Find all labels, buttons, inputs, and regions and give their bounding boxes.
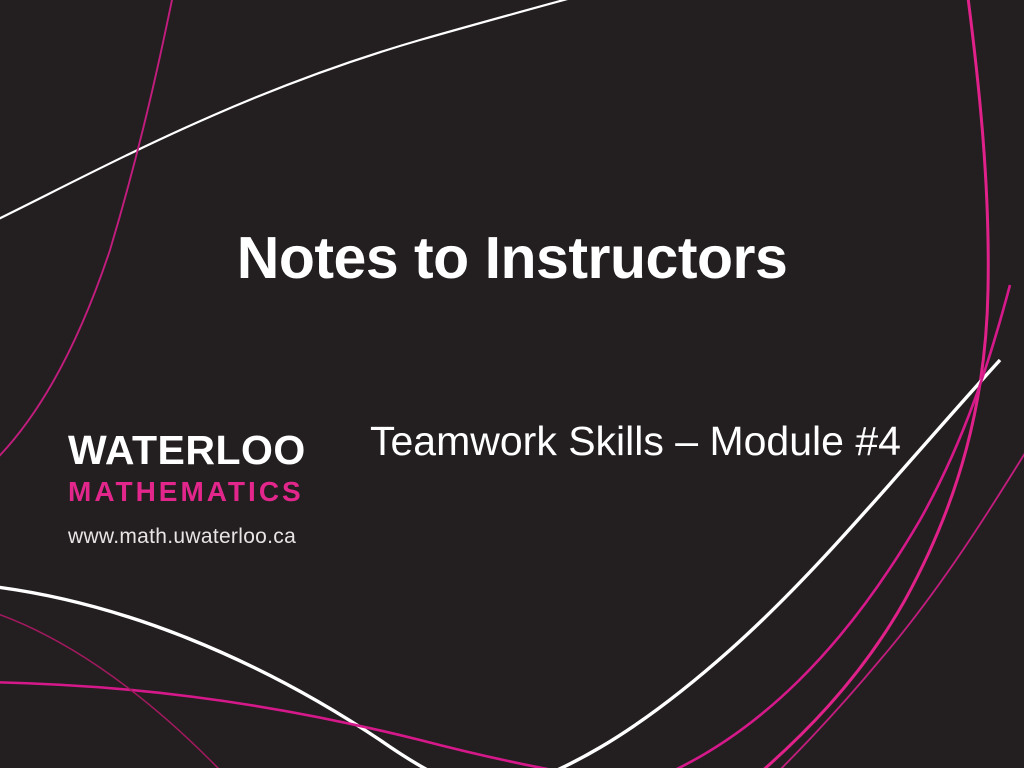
magenta-curve-bottom-thin bbox=[0, 608, 262, 768]
magenta-curve-bottom-right bbox=[760, 445, 1024, 768]
magenta-curve-bottom-v bbox=[0, 682, 660, 768]
logo-waterloo-wordmark: WATERLOO bbox=[68, 430, 368, 471]
magenta-curve-right-edge bbox=[740, 0, 988, 768]
background-decoration bbox=[0, 0, 1024, 768]
magenta-curve-bottom-v-right bbox=[640, 285, 1010, 768]
white-curve-bottom-sweep bbox=[0, 585, 520, 768]
slide-canvas: Notes to Instructors Teamwork Skills – M… bbox=[0, 0, 1024, 768]
logo-website-url: www.math.uwaterloo.ca bbox=[68, 526, 368, 547]
white-curve-top-left bbox=[0, 0, 760, 228]
waterloo-math-logo: WATERLOO MATHEMATICS www.math.uwaterloo.… bbox=[68, 430, 368, 547]
slide-subtitle: Teamwork Skills – Module #4 bbox=[370, 419, 901, 464]
page-title: Notes to Instructors bbox=[0, 228, 1024, 290]
logo-mathematics-wordmark: MATHEMATICS bbox=[68, 478, 368, 506]
